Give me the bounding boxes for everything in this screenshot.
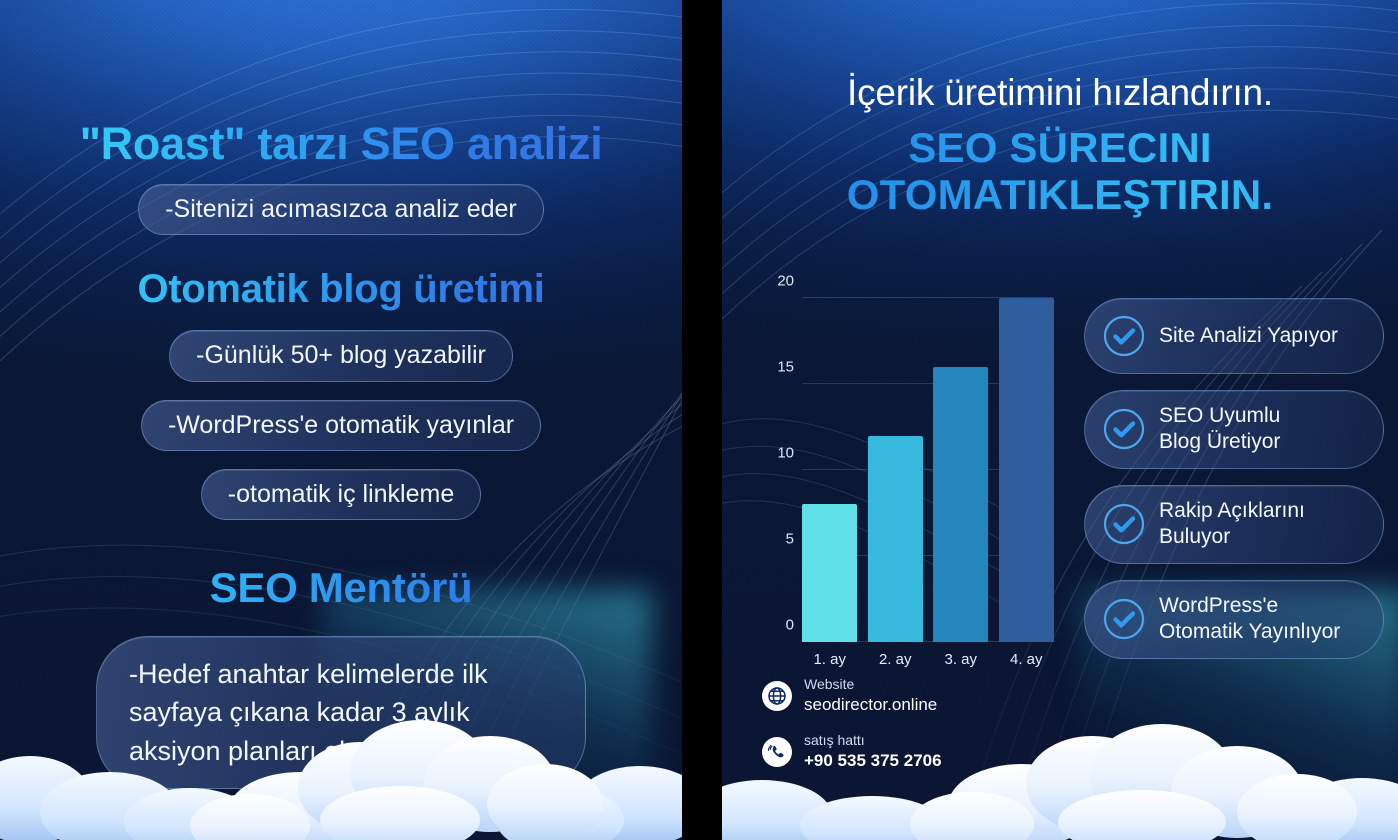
contact-phone-row[interactable]: satış hattı +90 535 375 2706 [762,732,942,772]
left-pill-wordpress: -WordPress'e otomatik yayınlar [141,400,541,451]
chart-y-tick: 10 [777,445,794,462]
right-heading: SEO SÜRECINI OTOMATIKLEŞTIRIN. [722,124,1398,218]
chart-bars [802,298,1054,642]
left-heading-roast: "Roast" tarzı SEO analizi [26,118,656,170]
left-content: "Roast" tarzı SEO analizi -Sitenizi acım… [0,0,682,840]
chart-bar [933,367,988,642]
feature-pill-label: SEO UyumluBlog Üretiyor [1159,403,1280,456]
chart-y-tick: 0 [786,617,794,634]
chart-bar-column [802,298,857,642]
contact-website-text: Website seodirector.online [804,676,937,716]
chart-bar-column [933,298,988,642]
feature-pill: Site Analizi Yapıyor [1084,298,1384,374]
feature-pill: WordPress'eOtomatik Yayınlıyor [1084,580,1384,659]
chart-y-tick: 15 [777,359,794,376]
chart-bar [868,436,923,642]
chart-x-tick: 2. ay [868,651,923,668]
contact-phone-value: +90 535 375 2706 [804,751,942,770]
right-subheading: İçerik üretimini hızlandırın. [722,72,1398,114]
left-pill-action-plan: -Hedef anahtar kelimelerde ilk sayfaya ç… [96,636,586,789]
contact-website-label: Website [804,676,854,692]
panel-gutter [682,0,722,840]
chart-x-axis-labels: 1. ay2. ay3. ay4. ay [802,651,1054,668]
check-circle-icon [1103,315,1145,357]
chart-y-tick: 5 [786,531,794,548]
check-circle-icon [1103,598,1145,640]
left-pill-site-analysis: -Sitenizi acımasızca analiz eder [138,184,544,235]
phone-icon [762,737,792,767]
chart-x-tick: 3. ay [933,651,988,668]
check-circle-icon [1103,408,1145,450]
chart-x-tick: 1. ay [802,651,857,668]
contact-website-row[interactable]: Website seodirector.online [762,676,942,716]
chart-bar [802,504,857,642]
feature-pill: Rakip AçıklarınıBuluyor [1084,485,1384,564]
left-heading-blog: Otomatik blog üretimi [26,267,656,312]
contact-phone-label: satış hattı [804,732,865,748]
contact-website-value: seodirector.online [804,695,937,714]
feature-pill-label: WordPress'eOtomatik Yayınlıyor [1159,593,1340,646]
chart-area: 05101520 1. ay2. ay3. ay4. ay [760,290,1060,670]
left-pill-daily-blogs: -Günlük 50+ blog yazabilir [169,330,513,381]
right-poster-panel: İçerik üretimini hızlandırın. SEO SÜRECI… [722,0,1398,840]
right-content: İçerik üretimini hızlandırın. SEO SÜRECI… [722,0,1398,840]
globe-icon [762,681,792,711]
chart-bar-column [868,298,923,642]
left-pill-internal-linking: -otomatik iç linkleme [201,469,481,520]
contact-phone-text: satış hattı +90 535 375 2706 [804,732,942,772]
growth-bar-chart: 05101520 1. ay2. ay3. ay4. ay [760,290,1060,670]
left-poster-panel: "Roast" tarzı SEO analizi -Sitenizi acım… [0,0,682,840]
feature-pill-label: Rakip AçıklarınıBuluyor [1159,498,1305,551]
feature-pill-label: Site Analizi Yapıyor [1159,323,1338,349]
check-circle-icon [1103,503,1145,545]
chart-y-tick: 20 [777,273,794,290]
feature-pill: SEO UyumluBlog Üretiyor [1084,390,1384,469]
left-heading-mentor: SEO Mentörü [26,564,656,612]
contact-block: Website seodirector.online [762,676,942,788]
poster-stage: "Roast" tarzı SEO analizi -Sitenizi acım… [0,0,1398,840]
feature-pill-list: Site Analizi YapıyorSEO UyumluBlog Üreti… [1084,298,1384,675]
chart-bar [999,298,1054,642]
chart-bar-column [999,298,1054,642]
right-heading-line-2: OTOMATIKLEŞTIRIN. [847,171,1274,218]
chart-x-tick: 4. ay [999,651,1054,668]
chart-plot-area: 05101520 [802,298,1054,642]
right-heading-line-1: SEO SÜRECINI [908,124,1211,171]
